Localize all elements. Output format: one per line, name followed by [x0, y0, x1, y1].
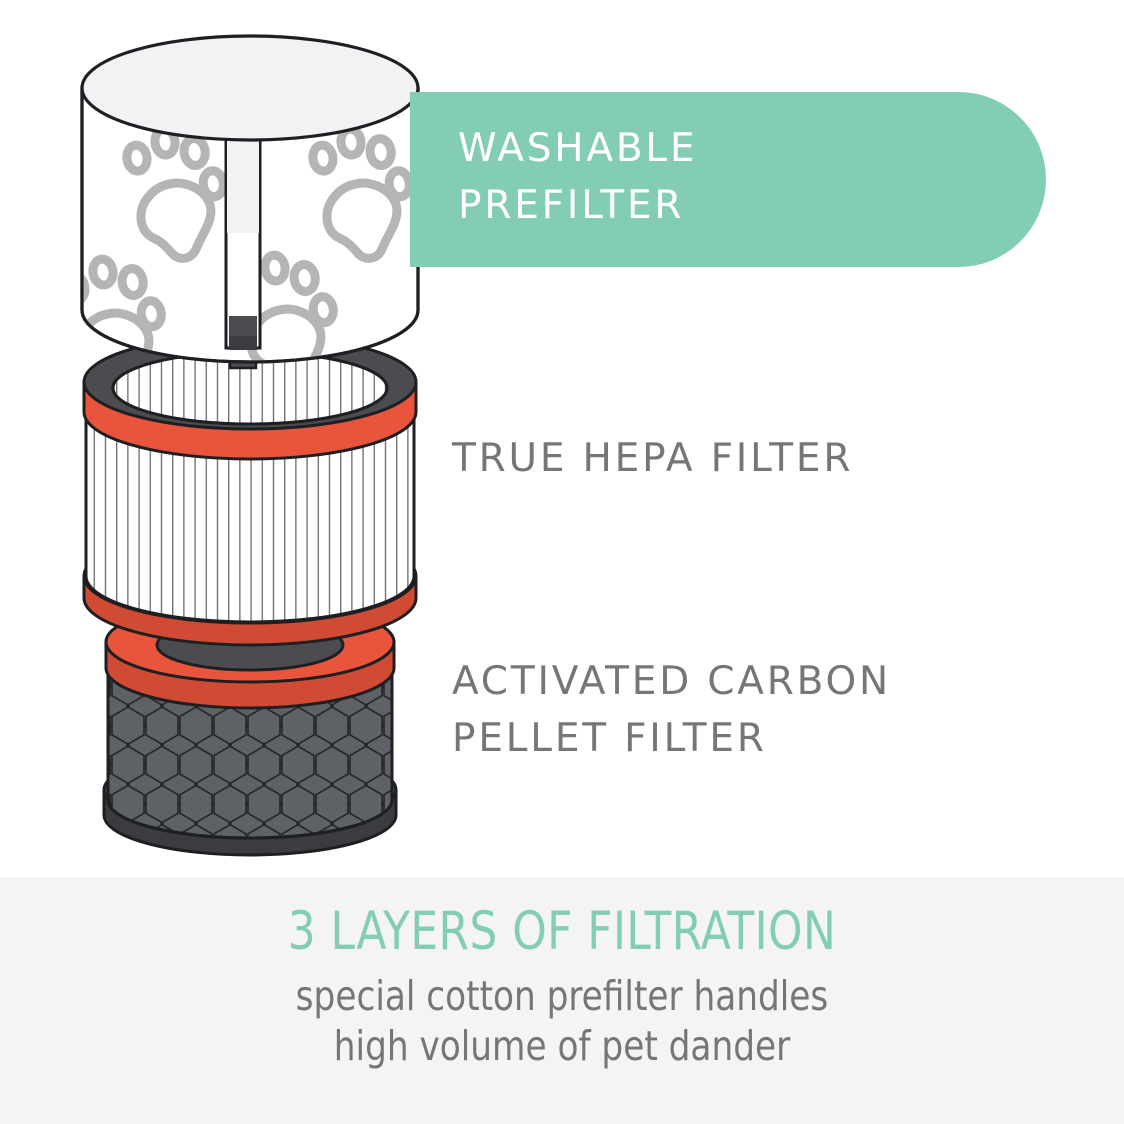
layer-label-hepa: TRUE HEPA FILTER — [452, 430, 853, 487]
footer-panel: 3 LAYERS OF FILTRATION special cotton pr… — [0, 877, 1124, 1124]
infographic-root: WASHABLE PREFILTER TRUE HEPA FILTER ACTI… — [0, 0, 1124, 1124]
prefilter-graphic — [62, 36, 419, 394]
footer-headline: 3 LAYERS OF FILTRATION — [45, 877, 1079, 963]
layer-label-prefilter: WASHABLE PREFILTER — [458, 120, 697, 235]
footer-subline: special cotton prefilter handles high vo… — [39, 963, 1084, 1071]
filter-diagram-area: WASHABLE PREFILTER TRUE HEPA FILTER ACTI… — [0, 0, 1124, 877]
callout-banner-prefilter: WASHABLE PREFILTER — [410, 92, 1046, 267]
hepa-filter-graphic — [84, 335, 416, 645]
filter-stack-illustration — [60, 20, 440, 860]
layer-label-carbon: ACTIVATED CARBON PELLET FILTER — [452, 653, 891, 768]
